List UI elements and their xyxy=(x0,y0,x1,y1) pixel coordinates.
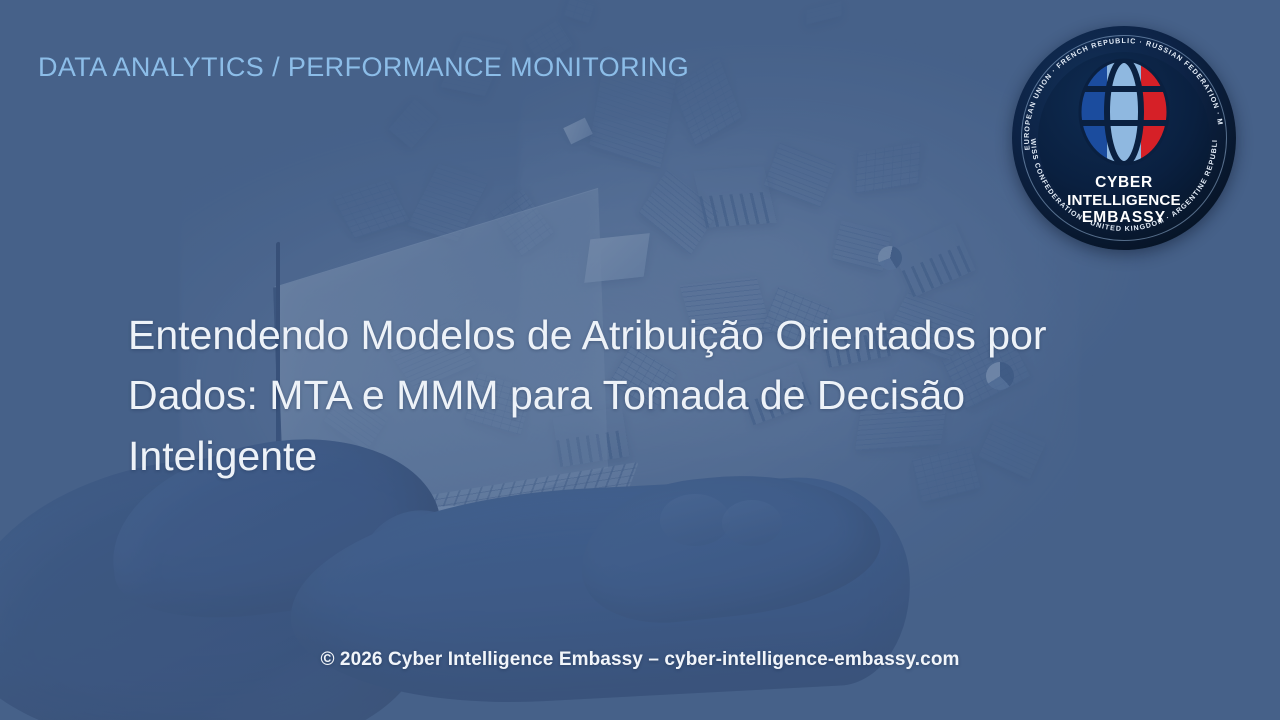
seal-name-line1: CYBER xyxy=(1012,174,1236,192)
seal-name-line2: INTELLIGENCE xyxy=(1012,192,1236,209)
slide-canvas: DATA ANALYTICS / PERFORMANCE MONITORING … xyxy=(0,0,1280,720)
seal-name: CYBER INTELLIGENCE EMBASSY xyxy=(1012,174,1236,227)
page-title: Entendendo Modelos de Atribuição Orienta… xyxy=(128,305,1108,486)
seal-name-line3: EMBASSY xyxy=(1012,209,1236,227)
cyber-intelligence-embassy-seal: UNITED STATES OF AMERICA · EUROPEAN UNIO… xyxy=(1012,26,1236,250)
footer-copyright: © 2026 Cyber Intelligence Embassy – cybe… xyxy=(0,649,1280,671)
category-kicker: DATA ANALYTICS / PERFORMANCE MONITORING xyxy=(38,52,689,83)
globe-icon xyxy=(1074,56,1174,168)
